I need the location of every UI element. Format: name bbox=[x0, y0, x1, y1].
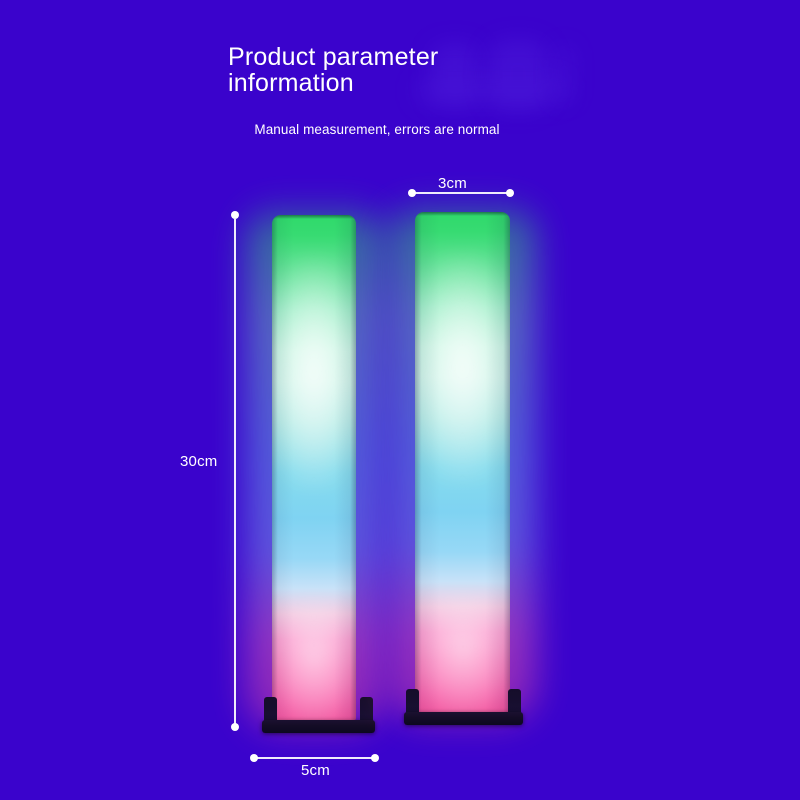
dimension-endpoint-dot bbox=[506, 189, 514, 197]
dimension-endpoint-dot bbox=[408, 189, 416, 197]
page-title: Product parameter information bbox=[228, 44, 648, 96]
dimension-label-height: 30cm bbox=[180, 453, 217, 470]
dimension-endpoint-dot bbox=[231, 211, 239, 219]
light-bar-top-rim bbox=[272, 215, 356, 219]
light-bar-right bbox=[415, 212, 510, 712]
dimension-label-width: 5cm bbox=[301, 762, 330, 779]
dimension-label-depth: 3cm bbox=[438, 175, 467, 192]
light-bar-top-rim bbox=[415, 212, 510, 216]
dimension-line-vertical bbox=[234, 219, 236, 727]
dimension-line-horizontal bbox=[257, 757, 374, 759]
dimension-endpoint-dot bbox=[250, 754, 258, 762]
light-bar-left bbox=[272, 215, 356, 720]
dimension-line-horizontal bbox=[415, 192, 509, 194]
light-bar-body bbox=[272, 215, 356, 720]
product-parameter-infographic: Product parameter information Manual mea… bbox=[0, 0, 800, 800]
page-subtitle: Manual measurement, errors are normal bbox=[232, 122, 522, 138]
light-bar-edge-shading bbox=[272, 215, 356, 720]
dimension-endpoint-dot bbox=[371, 754, 379, 762]
stand-base-plate bbox=[262, 720, 375, 733]
light-bar-body bbox=[415, 212, 510, 712]
light-bar-right-stand bbox=[404, 686, 523, 725]
stand-base-plate bbox=[404, 712, 523, 725]
dimension-endpoint-dot bbox=[231, 723, 239, 731]
light-bar-edge-shading bbox=[415, 212, 510, 712]
light-bar-left-stand bbox=[262, 694, 375, 733]
